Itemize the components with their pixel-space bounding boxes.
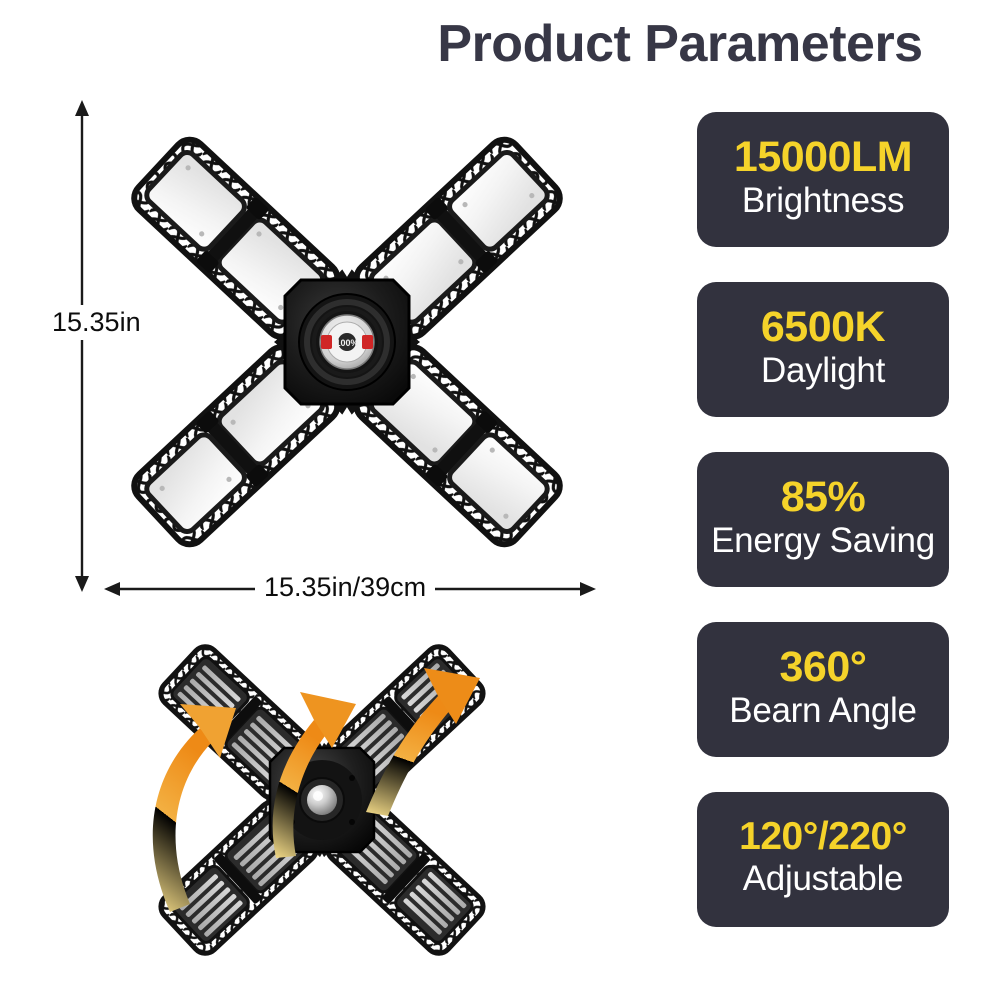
product-image-front-view: 100% [92,92,602,592]
svg-text:100%: 100% [335,338,358,348]
infographic-canvas: Product Parameters [0,0,1000,1000]
spec-card-list: 15000LM Brightness 6500K Daylight 85% En… [697,112,949,962]
product-image-back-view [108,612,528,957]
spec-card-beam-angle[interactable]: 360° Bearn Angle [697,622,949,757]
dimension-horizontal-label: 15.35in/39cm [255,572,435,603]
spec-value: 120°/220° [739,817,907,858]
dimension-vertical [52,96,112,596]
spec-value: 360° [780,645,867,690]
spec-label: Bearn Angle [729,692,916,731]
spec-card-brightness[interactable]: 15000LM Brightness [697,112,949,247]
spec-label: Daylight [761,352,885,391]
page-title: Product Parameters [400,16,960,73]
spec-card-energy-saving[interactable]: 85% Energy Saving [697,452,949,587]
spec-value: 15000LM [734,135,912,180]
spec-label: Adjustable [743,860,903,899]
spec-label: Brightness [742,182,904,221]
dimension-vertical-label: 15.35in [50,305,145,340]
spec-card-adjustable-angle[interactable]: 120°/220° Adjustable [697,792,949,927]
spec-card-color-temperature[interactable]: 6500K Daylight [697,282,949,417]
spec-label: Energy Saving [711,522,935,561]
spec-value: 6500K [761,305,885,350]
spec-value: 85% [781,475,866,520]
